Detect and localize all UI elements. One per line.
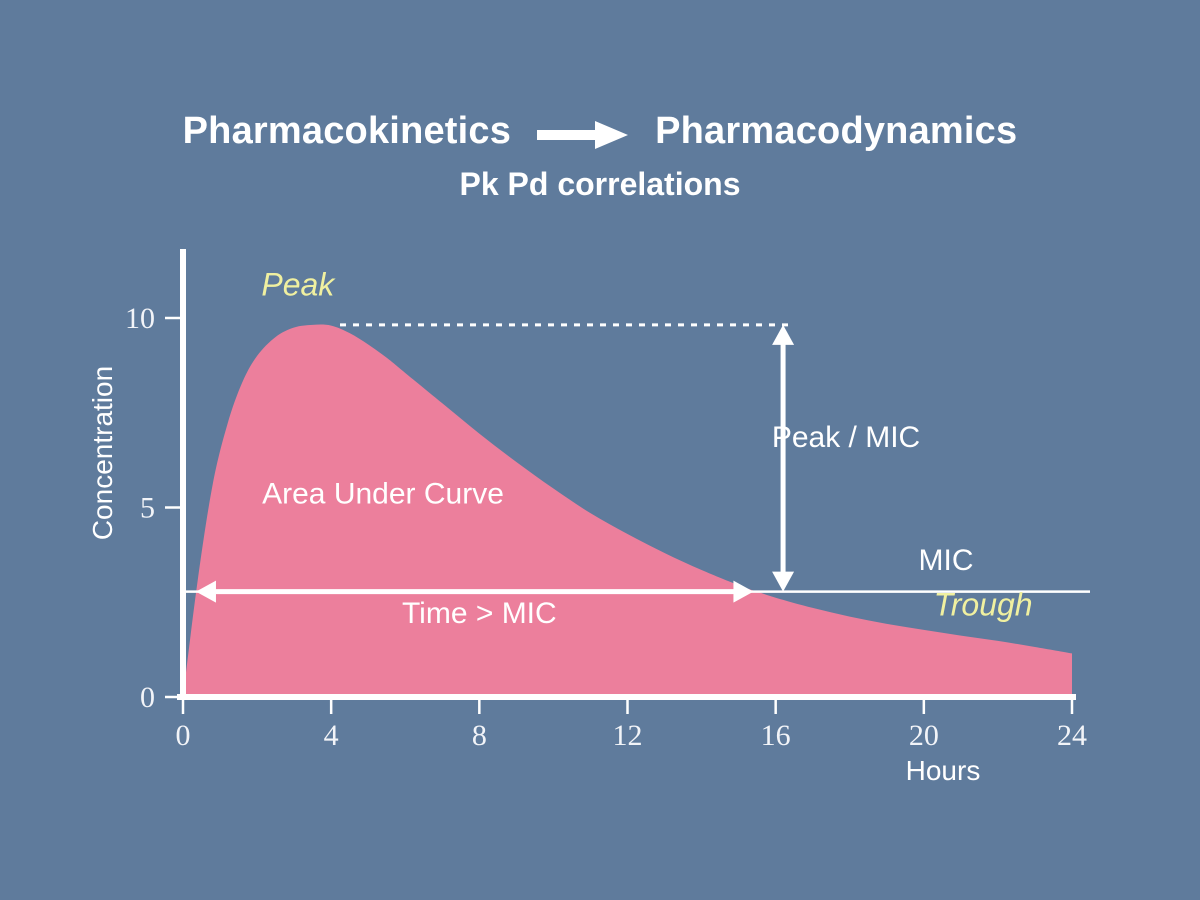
x-tick-label: 4 [324,719,339,752]
x-tick-label: 12 [613,719,643,752]
x-tick-label: 8 [472,719,487,752]
y-tick-label: 5 [140,492,155,525]
x-tick-label: 16 [761,719,791,752]
peak-over-mic-arrow-head-bottom [772,572,794,592]
peak-over-mic-label: Peak / MIC [772,421,920,454]
y-axis-title: Concentration [87,366,118,540]
peak-label: Peak [261,266,336,302]
pk-pd-chart: 04812162024 0510 Concentration Hours Pea… [0,0,1200,900]
time-over-mic-label: Time > MIC [402,597,557,630]
trough-label: Trough [934,587,1033,623]
x-tick-label: 0 [176,719,191,752]
y-tick-label: 0 [140,681,155,714]
peak-over-mic-arrow-head-top [772,325,794,345]
x-tick-label: 20 [909,719,939,752]
y-tick-labels: 0510 [125,302,155,714]
y-tick-label: 10 [125,302,155,335]
x-tick-labels: 04812162024 [176,719,1088,752]
mic-label: MIC [919,544,974,577]
area-under-curve-path [183,325,1072,697]
x-axis-title: Hours [906,755,981,786]
x-tick-label: 24 [1057,719,1087,752]
area-under-curve-label: Area Under Curve [262,478,504,511]
slide-canvas: Pharmacokinetics Pharmacodynamics Pk Pd … [0,0,1200,900]
